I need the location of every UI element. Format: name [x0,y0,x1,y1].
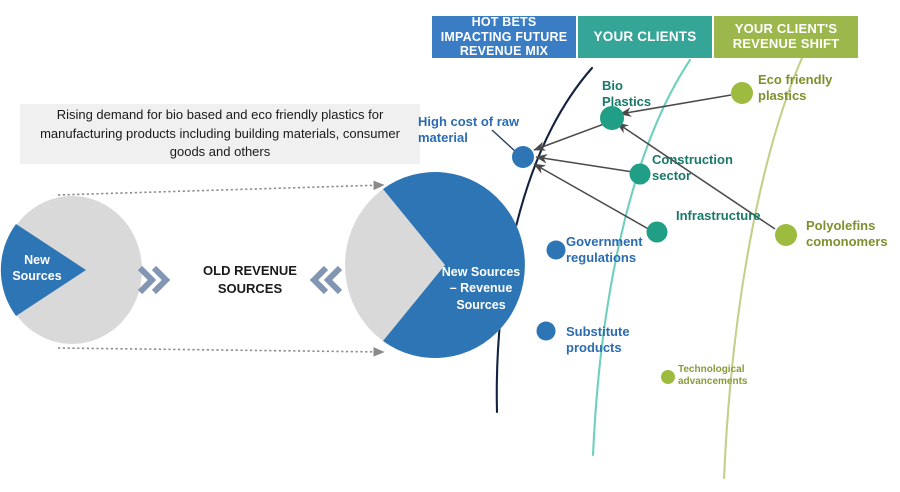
node-technological[interactable] [661,370,675,384]
node-label-infrastructure: Infrastructure [676,208,762,224]
node-label-technological-advancements: Technological advancements [678,364,758,388]
node-label-construction-sector: Construction sector [652,152,744,185]
node-polyolefins[interactable] [775,224,797,246]
tab-hot-bets[interactable]: HOT BETS IMPACTING FUTURE REVENUE MIX [432,16,576,58]
edge-bio-to-highcost [534,124,604,150]
node-construction[interactable] [630,164,651,185]
node-label-bio-plastics: Bio Plastics [602,78,664,111]
callout-text-box: Rising demand for bio based and eco frie… [20,104,420,164]
edge-construction-to-highcost [536,157,633,172]
node-eco-friendly[interactable] [731,82,753,104]
arc-revenue-shift [724,58,802,478]
dotted-connector-top [58,185,384,195]
node-high-cost[interactable] [512,146,534,168]
tab-your-clients[interactable]: YOUR CLIENTS [578,16,712,58]
node-label-eco-friendly-plastics: Eco friendly plastics [758,72,850,105]
node-label-government-regulations: Government regulations [566,234,658,267]
pie-chart-old-revenue [1,196,142,344]
node-substitute[interactable] [537,322,556,341]
node-government[interactable] [547,241,566,260]
pie-chart-new-revenue [345,172,525,358]
node-label-high-cost: High cost of raw material [418,114,534,147]
node-label-polyolefins-comonomers: Polyolefins comonomers [806,218,900,251]
dotted-connector-bottom [58,348,384,352]
chevron-right-group [140,268,166,292]
node-label-substitute-products: Substitute products [566,324,650,357]
diagram-canvas: HOT BETS IMPACTING FUTURE REVENUE MIX YO… [0,0,900,492]
old-revenue-sources-label: OLD REVENUE SOURCES [170,262,330,297]
chevron-right-1 [140,268,152,292]
tab-revenue-shift[interactable]: YOUR CLIENT'S REVENUE SHIFT [714,16,858,58]
